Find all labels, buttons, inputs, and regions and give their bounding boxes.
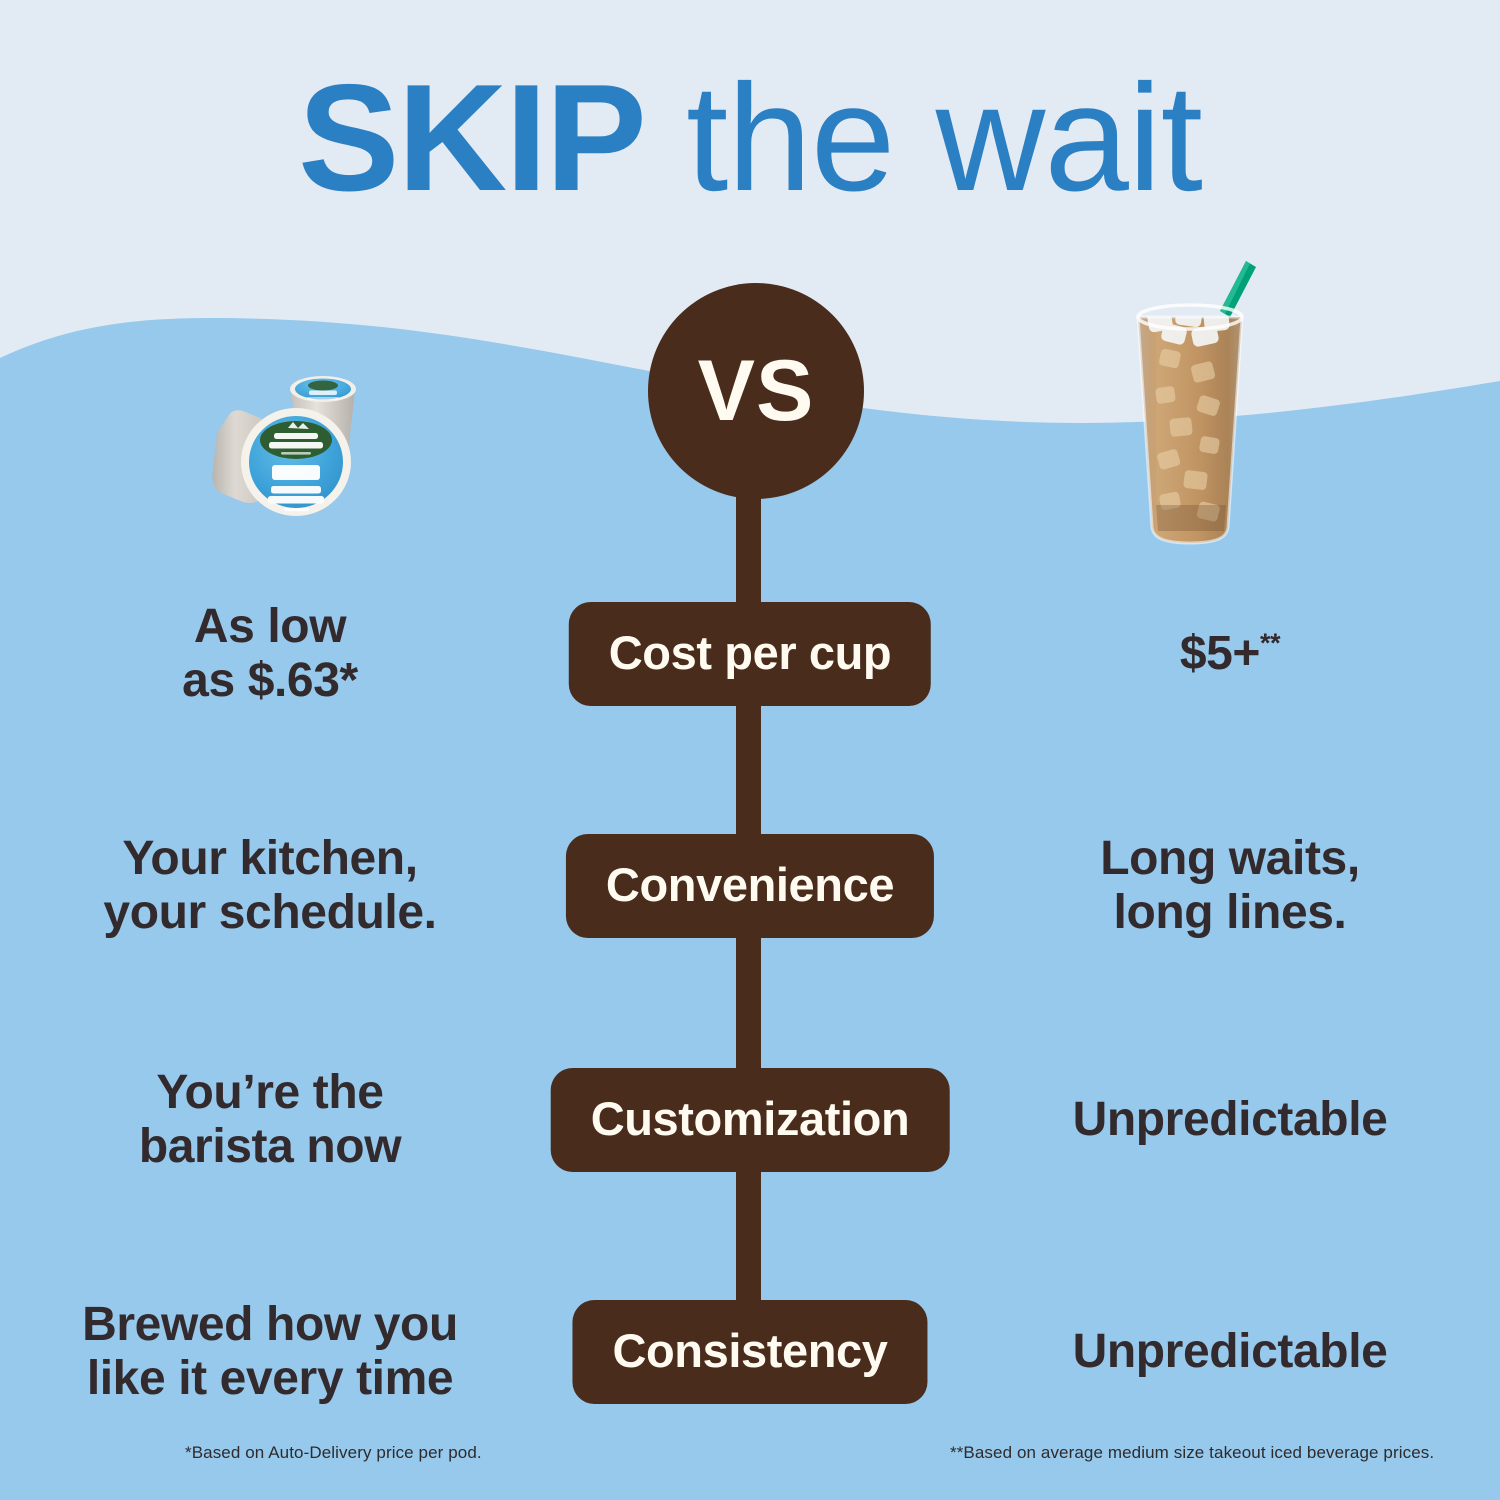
- attribute-pill-consistency[interactable]: Consistency: [572, 1300, 927, 1404]
- row-right-value: Long waits, long lines.: [952, 832, 1500, 940]
- row-right-value: Unpredictable: [952, 1093, 1500, 1147]
- row-right-superscript: **: [1260, 628, 1280, 658]
- row-left-value: Brewed how you like it every time: [0, 1298, 548, 1406]
- attribute-pill-convenience[interactable]: Convenience: [566, 834, 934, 938]
- row-right-text: $5+: [1180, 627, 1260, 680]
- row-left-value: As low as $.63*: [0, 600, 548, 708]
- headline-the-wait: the wait: [645, 53, 1202, 223]
- row-left-value: You’re the barista now: [0, 1066, 548, 1174]
- row-right-value: $5+**: [952, 627, 1500, 681]
- cup-base-shadow: [1156, 505, 1226, 531]
- page-title: SKIP the wait: [0, 62, 1500, 214]
- footnote-right: **Based on average medium size takeout i…: [950, 1443, 1434, 1463]
- row-left-value: Your kitchen, your schedule.: [0, 832, 548, 940]
- footnote-left: *Based on Auto-Delivery price per pod.: [185, 1443, 482, 1463]
- vs-badge-label: VS: [698, 348, 815, 434]
- iced-coffee-image: [1100, 255, 1280, 555]
- kcup-pods-illustration: [195, 355, 465, 555]
- kcup-pods-image: [195, 355, 465, 555]
- comparison-row: You’re the barista now Customization Unp…: [0, 1060, 1500, 1180]
- comparison-row: Brewed how you like it every time Consis…: [0, 1292, 1500, 1412]
- comparison-row: As low as $.63* Cost per cup $5+**: [0, 594, 1500, 714]
- row-right-value: Unpredictable: [952, 1325, 1500, 1379]
- iced-coffee-illustration: [1100, 255, 1280, 555]
- infographic-canvas: SKIP the wait VS: [0, 0, 1500, 1500]
- attribute-pill-customization[interactable]: Customization: [551, 1068, 950, 1172]
- kcup-pod-front: [212, 408, 351, 516]
- attribute-pill-cost-per-cup[interactable]: Cost per cup: [569, 602, 931, 706]
- headline-skip: SKIP: [298, 53, 645, 223]
- comparison-row: Your kitchen, your schedule. Convenience…: [0, 826, 1500, 946]
- vs-badge: VS: [648, 283, 864, 499]
